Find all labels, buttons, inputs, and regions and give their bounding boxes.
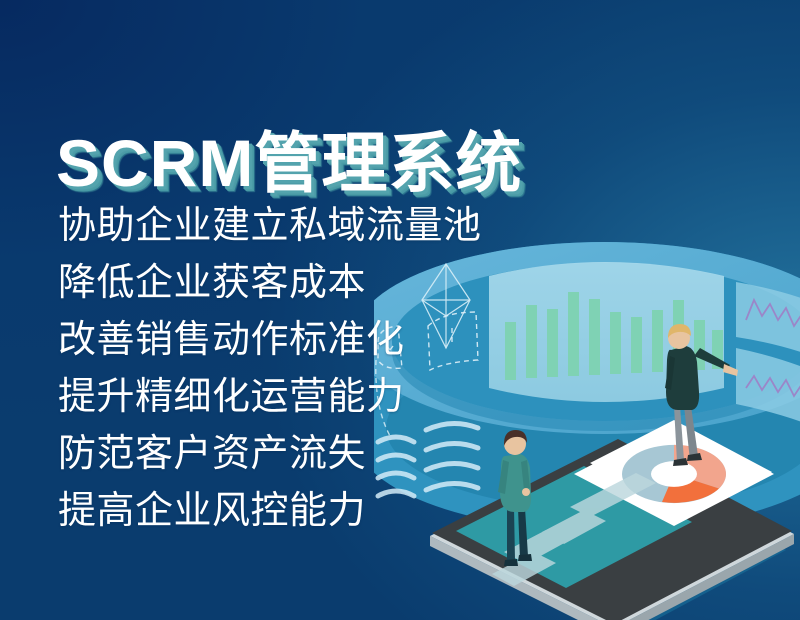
feature-item-4: 提升精细化运营能力 (58, 369, 482, 426)
feature-item-5: 防范客户资产流失 (58, 426, 482, 483)
promo-poster: SCRM管理系统 协助企业建立私域流量池 降低企业获客成本 改善销售动作标准化 … (0, 0, 800, 620)
feature-item-3: 改善销售动作标准化 (58, 312, 482, 369)
page-title: SCRM管理系统 (56, 130, 522, 196)
feature-item-1: 协助企业建立私域流量池 (58, 198, 482, 255)
feature-item-2: 降低企业获客成本 (58, 255, 482, 312)
idle-hand (522, 488, 530, 496)
idle-leg-left (507, 508, 515, 561)
feature-list: 协助企业建立私域流量池 降低企业获客成本 改善销售动作标准化 提升精细化运营能力… (58, 198, 482, 540)
feature-item-6: 提高企业风控能力 (58, 483, 482, 540)
